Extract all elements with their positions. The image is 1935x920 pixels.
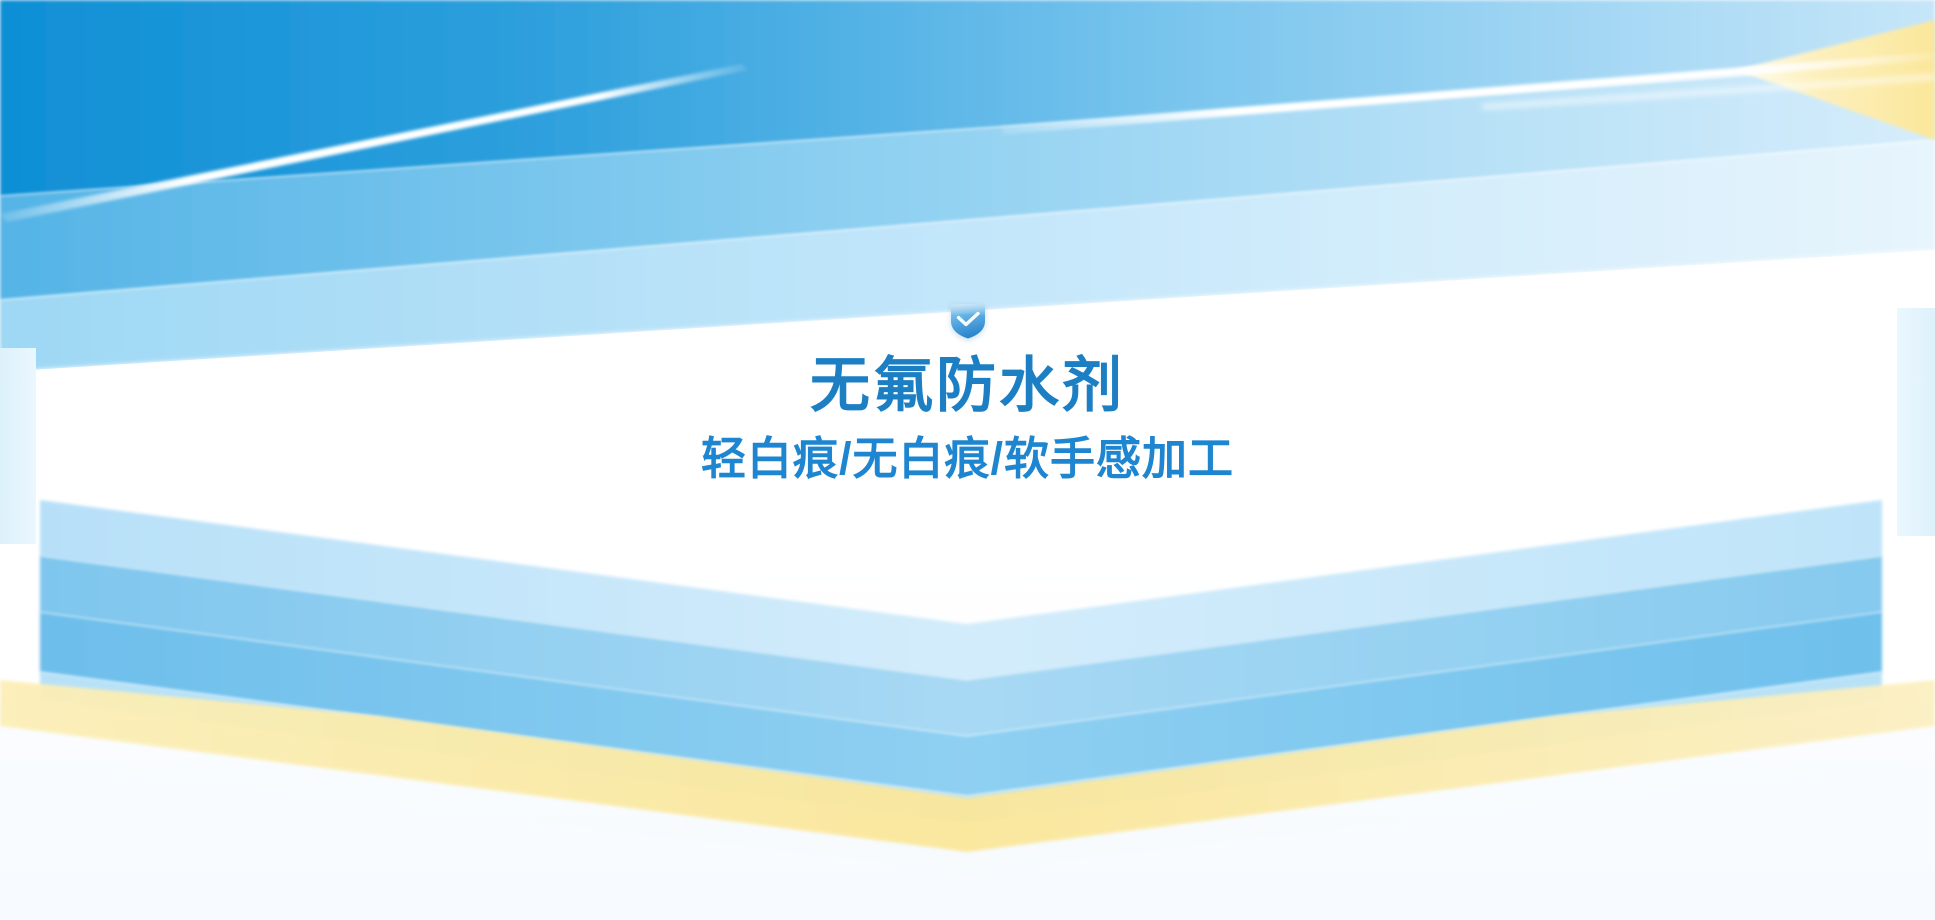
banner-content: 无氟防水剂 轻白痕/无白痕/软手感加工 [0, 0, 1935, 920]
page-subtitle: 轻白痕/无白痕/软手感加工 [701, 433, 1234, 485]
shield-check-icon [945, 296, 991, 342]
product-banner: 无氟防水剂 轻白痕/无白痕/软手感加工 [0, 0, 1935, 920]
page-title: 无氟防水剂 [810, 352, 1125, 419]
